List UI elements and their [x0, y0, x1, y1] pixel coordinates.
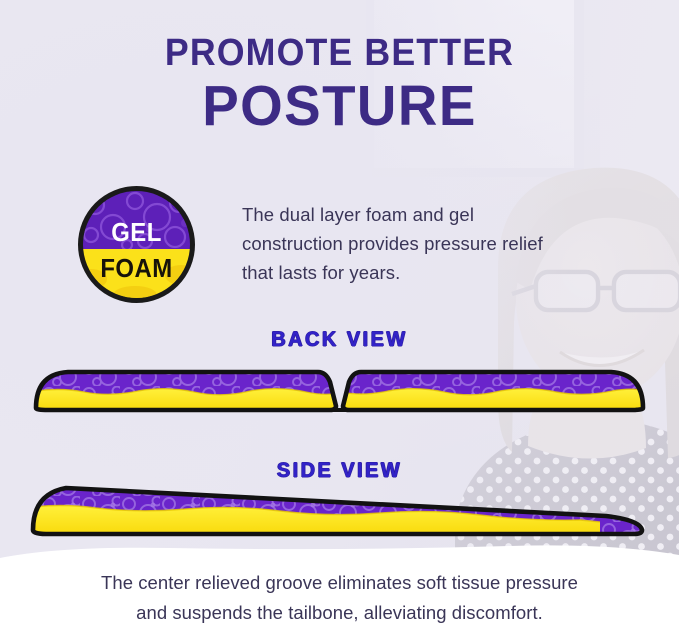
bottom-caption: The center relieved groove eliminates so… [0, 568, 679, 627]
badge-inner: GEL FOAM [83, 191, 190, 298]
headline-line-2: POSTURE [14, 76, 666, 136]
bottom-caption-line-1: The center relieved groove eliminates so… [0, 568, 679, 598]
back-view-label: BACK VIEW [17, 328, 662, 352]
gel-foam-badge: GEL FOAM [78, 186, 195, 303]
headline-block: PROMOTE BETTER POSTURE [0, 34, 679, 136]
bottom-caption-line-2: and suspends the tailbone, alleviating d… [0, 598, 679, 628]
badge-gel-label: GEL [87, 217, 185, 248]
intro-paragraph: The dual layer foam and gel construction… [242, 200, 562, 288]
bottom-caption-band: The center relieved groove eliminates so… [0, 542, 679, 637]
center-groove [332, 408, 347, 412]
headline-line-1: PROMOTE BETTER [20, 34, 658, 74]
badge-foam-label: FOAM [87, 253, 185, 284]
infographic-root: PROMOTE BETTER POSTURE [0, 0, 679, 637]
back-view-diagram [0, 360, 679, 427]
